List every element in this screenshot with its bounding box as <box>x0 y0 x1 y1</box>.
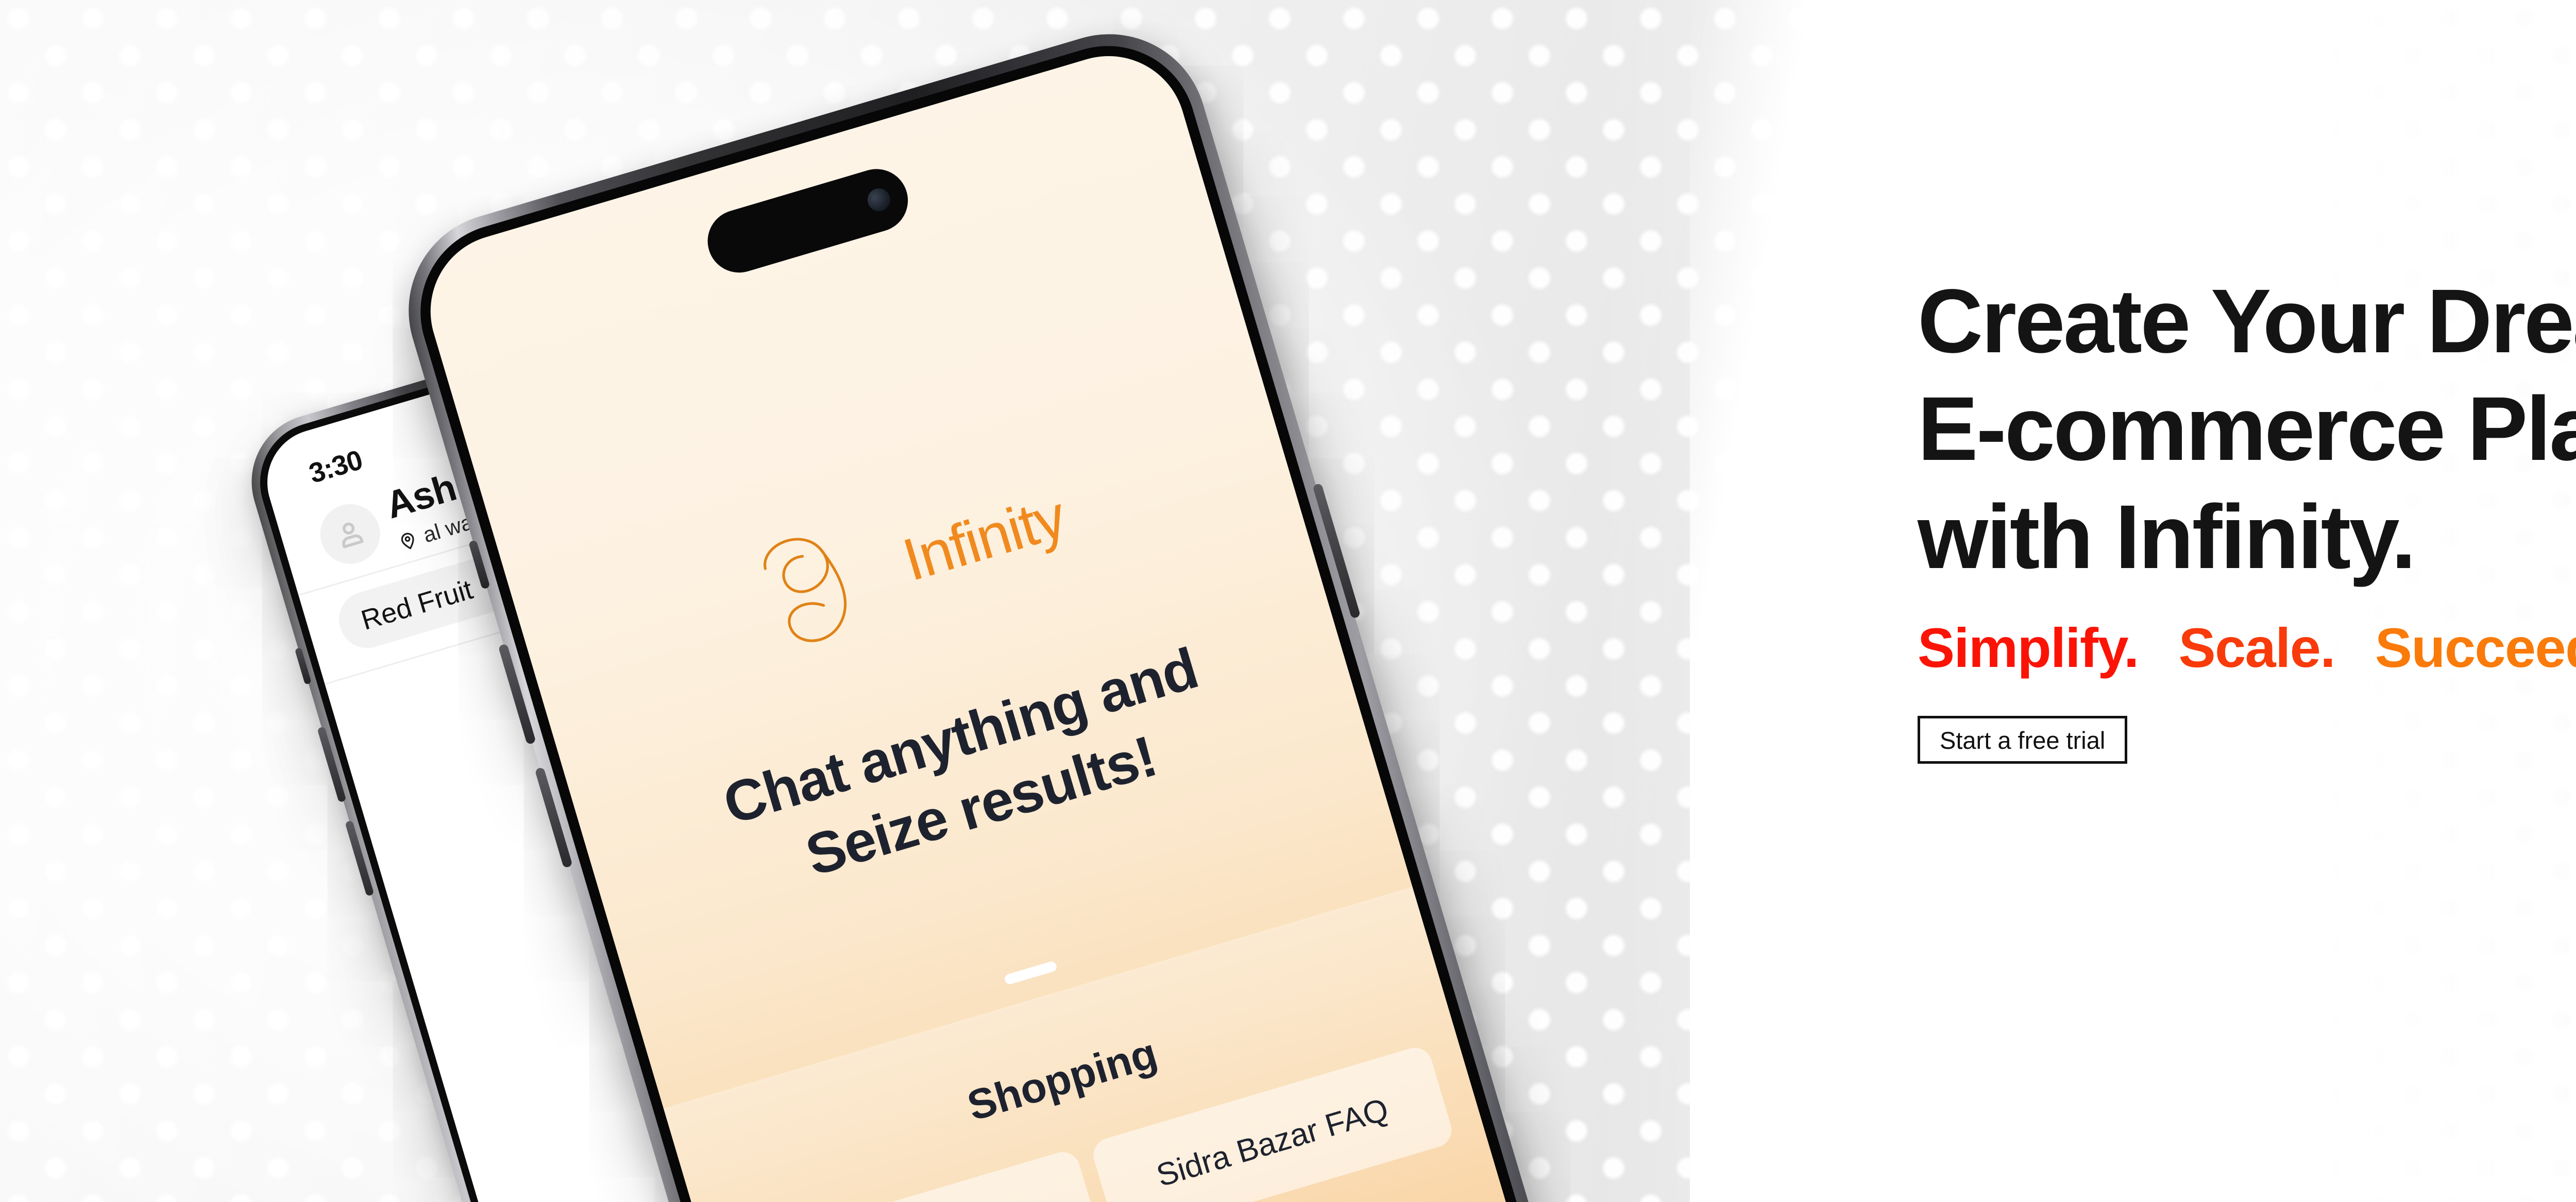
infinity-swirl-icon <box>734 496 922 673</box>
dynamic-island <box>700 161 916 280</box>
tagline-word-succeed: Succeed. <box>2375 620 2576 676</box>
hero-tagline: Simplify. Scale. Succeed. <box>1918 620 2576 676</box>
avatar[interactable] <box>313 497 387 571</box>
front-camera-icon <box>865 186 893 214</box>
location-pin-icon <box>395 528 421 554</box>
hero-banner: 3:30 Ash al wasl, <box>0 0 2576 1202</box>
start-free-trial-button[interactable]: Start a free trial <box>1918 716 2127 764</box>
sheet-drag-handle[interactable] <box>1004 960 1058 986</box>
filter-chip-label: Red Fruit <box>358 573 477 637</box>
status-bar-time: 3:30 <box>306 444 366 490</box>
tagline-word-simplify: Simplify. <box>1918 620 2139 676</box>
headline-line-3: with Infinity. <box>1918 484 2576 591</box>
tagline-word-scale: Scale. <box>2179 620 2335 676</box>
headline-line-2: E-commerce Platform <box>1918 375 2576 483</box>
user-icon <box>329 513 371 555</box>
page-title: Create Your Dream E-commerce Platform wi… <box>1918 268 2576 591</box>
headline-line-1: Create Your Dream <box>1918 268 2576 375</box>
infinity-logo-text: Infinity <box>895 482 1073 594</box>
hero-copy: Create Your Dream E-commerce Platform wi… <box>1918 268 2576 764</box>
